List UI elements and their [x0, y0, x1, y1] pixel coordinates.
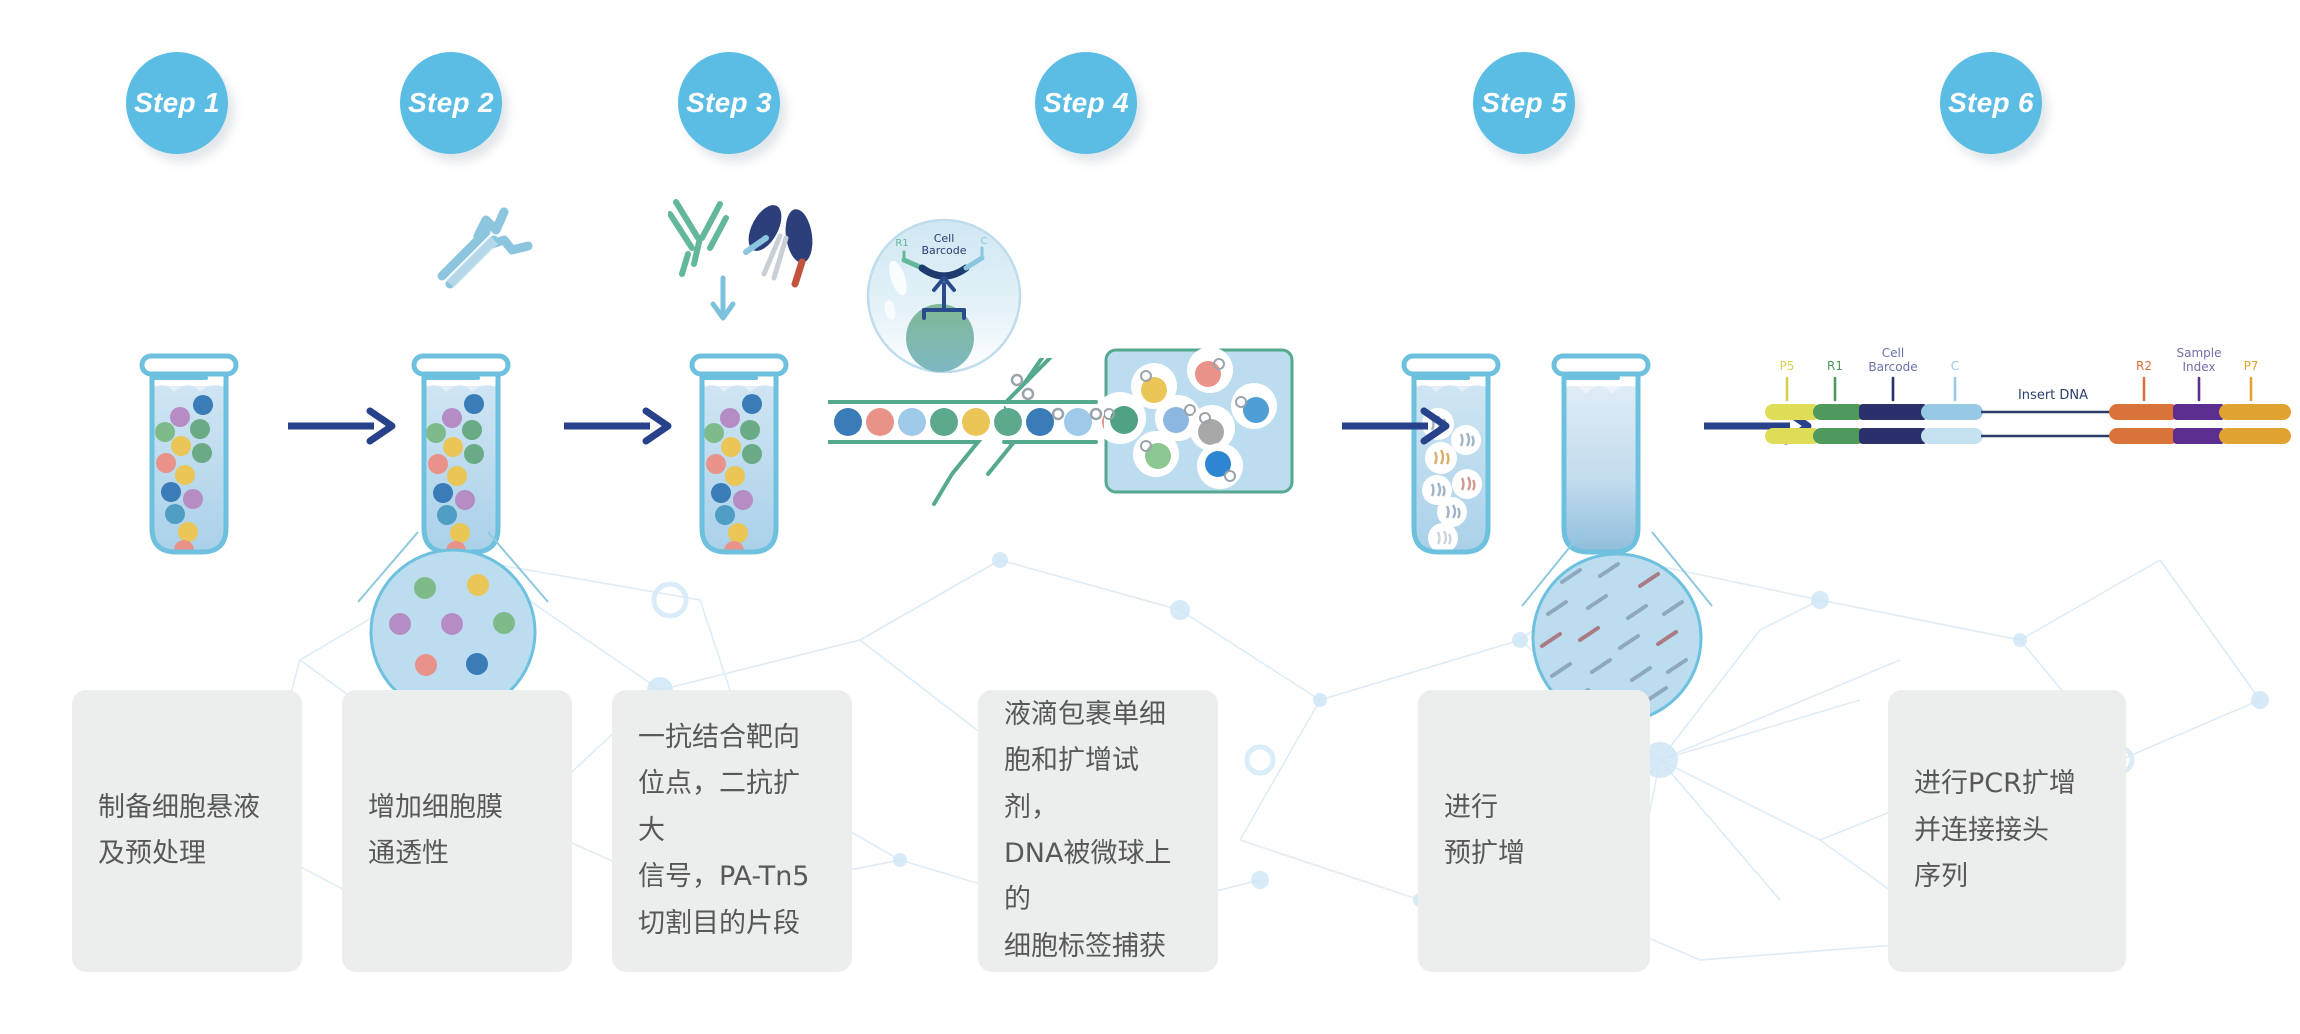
step-badge-3[interactable]: Step 3 — [678, 52, 780, 154]
flow-arrow-2-to-3 — [560, 406, 672, 446]
step-badge-4[interactable]: Step 4 — [1035, 52, 1137, 154]
step-badge-2[interactable]: Step 2 — [400, 52, 502, 154]
construct-label-cell-barcode-line2: Barcode — [1868, 360, 1917, 374]
construct-label-p5: P5 — [1780, 359, 1795, 373]
step-badge-5-label: Step 5 — [1481, 87, 1567, 119]
caption-box-step-1: 制备细胞悬液 及预处理 — [72, 690, 302, 972]
bead-bubble-c-label: C — [981, 236, 988, 247]
workflow-diagram: Step 1 Step 2 Step 3 Step 4 Step 5 Step … — [0, 0, 2300, 1034]
step6-library-construct: P5 R1 Cell Barcode C R2 Sample Index P7 … — [1765, 340, 2295, 465]
flow-arrow-4-to-5 — [1338, 406, 1450, 446]
caption-text-step-6: 进行PCR扩增 并连接接头 序列 — [1914, 761, 2076, 900]
construct-label-r2: R2 — [2136, 359, 2152, 373]
construct-bottom-strand — [1765, 428, 2291, 444]
construct-top-strand — [1765, 404, 2291, 420]
droplet — [1133, 431, 1179, 477]
construct-label-insert-dna: Insert DNA — [2018, 388, 2088, 403]
bead-bubble-cell-barcode-label-line2: Barcode — [921, 244, 966, 257]
step-badge-5[interactable]: Step 5 — [1473, 52, 1575, 154]
droplet — [1187, 348, 1233, 393]
construct-label-r1: R1 — [1827, 359, 1843, 373]
caption-box-step-5: 进行 预扩增 — [1418, 690, 1650, 972]
caption-text-step-5: 进行 预扩增 — [1444, 785, 1525, 878]
primary-antibody-icon — [670, 202, 726, 274]
caption-text-step-1: 制备细胞悬液 及预处理 — [98, 785, 260, 878]
step-badge-2-label: Step 2 — [408, 87, 494, 119]
step2-permeabilization-detergent-icon — [432, 196, 542, 296]
construct-label-cell-barcode-line1: Cell — [1882, 346, 1904, 360]
channel-cells — [834, 408, 1130, 436]
droplet — [1231, 383, 1277, 429]
step1-test-tube-with-cells — [128, 300, 258, 570]
droplet — [1197, 443, 1243, 489]
step-badge-4-label: Step 4 — [1043, 87, 1129, 119]
construct-label-c: C — [1951, 359, 1959, 373]
construct-label-sample-index-line2: Index — [2182, 360, 2215, 374]
caption-box-step-2: 增加细胞膜 通透性 — [342, 690, 572, 972]
pa-tn5-icon — [742, 200, 816, 284]
step-badge-6-label: Step 6 — [1948, 87, 2034, 119]
caption-box-step-6: 进行PCR扩增 并连接接头 序列 — [1888, 690, 2126, 972]
caption-text-step-3: 一抗结合靶向 位点，二抗扩大 信号，PA-Tn5 切割目的片段 — [638, 715, 826, 947]
flow-arrow-1-to-2 — [284, 406, 396, 446]
step-badge-1[interactable]: Step 1 — [126, 52, 228, 154]
construct-label-sample-index-line1: Sample — [2177, 346, 2222, 360]
caption-text-step-2: 增加细胞膜 通透性 — [368, 785, 503, 878]
step3-test-tube-with-cells — [678, 300, 808, 570]
construct-label-p7: P7 — [2244, 359, 2259, 373]
step-badge-1-label: Step 1 — [134, 87, 220, 119]
droplet — [1189, 405, 1235, 451]
caption-box-step-3: 一抗结合靶向 位点，二抗扩大 信号，PA-Tn5 切割目的片段 — [612, 690, 852, 972]
step4-droplet-collection-chamber — [1104, 348, 1294, 500]
caption-text-step-4: 液滴包裹单细 胞和扩增试剂， DNA被微球上的 细胞标签捕获 — [1004, 692, 1192, 971]
step-badge-3-label: Step 3 — [686, 87, 772, 119]
caption-box-step-4: 液滴包裹单细 胞和扩增试剂， DNA被微球上的 细胞标签捕获 — [978, 690, 1218, 972]
step-badge-6[interactable]: Step 6 — [1940, 52, 2042, 154]
bead-bubble-r1-label: R1 — [895, 238, 908, 249]
